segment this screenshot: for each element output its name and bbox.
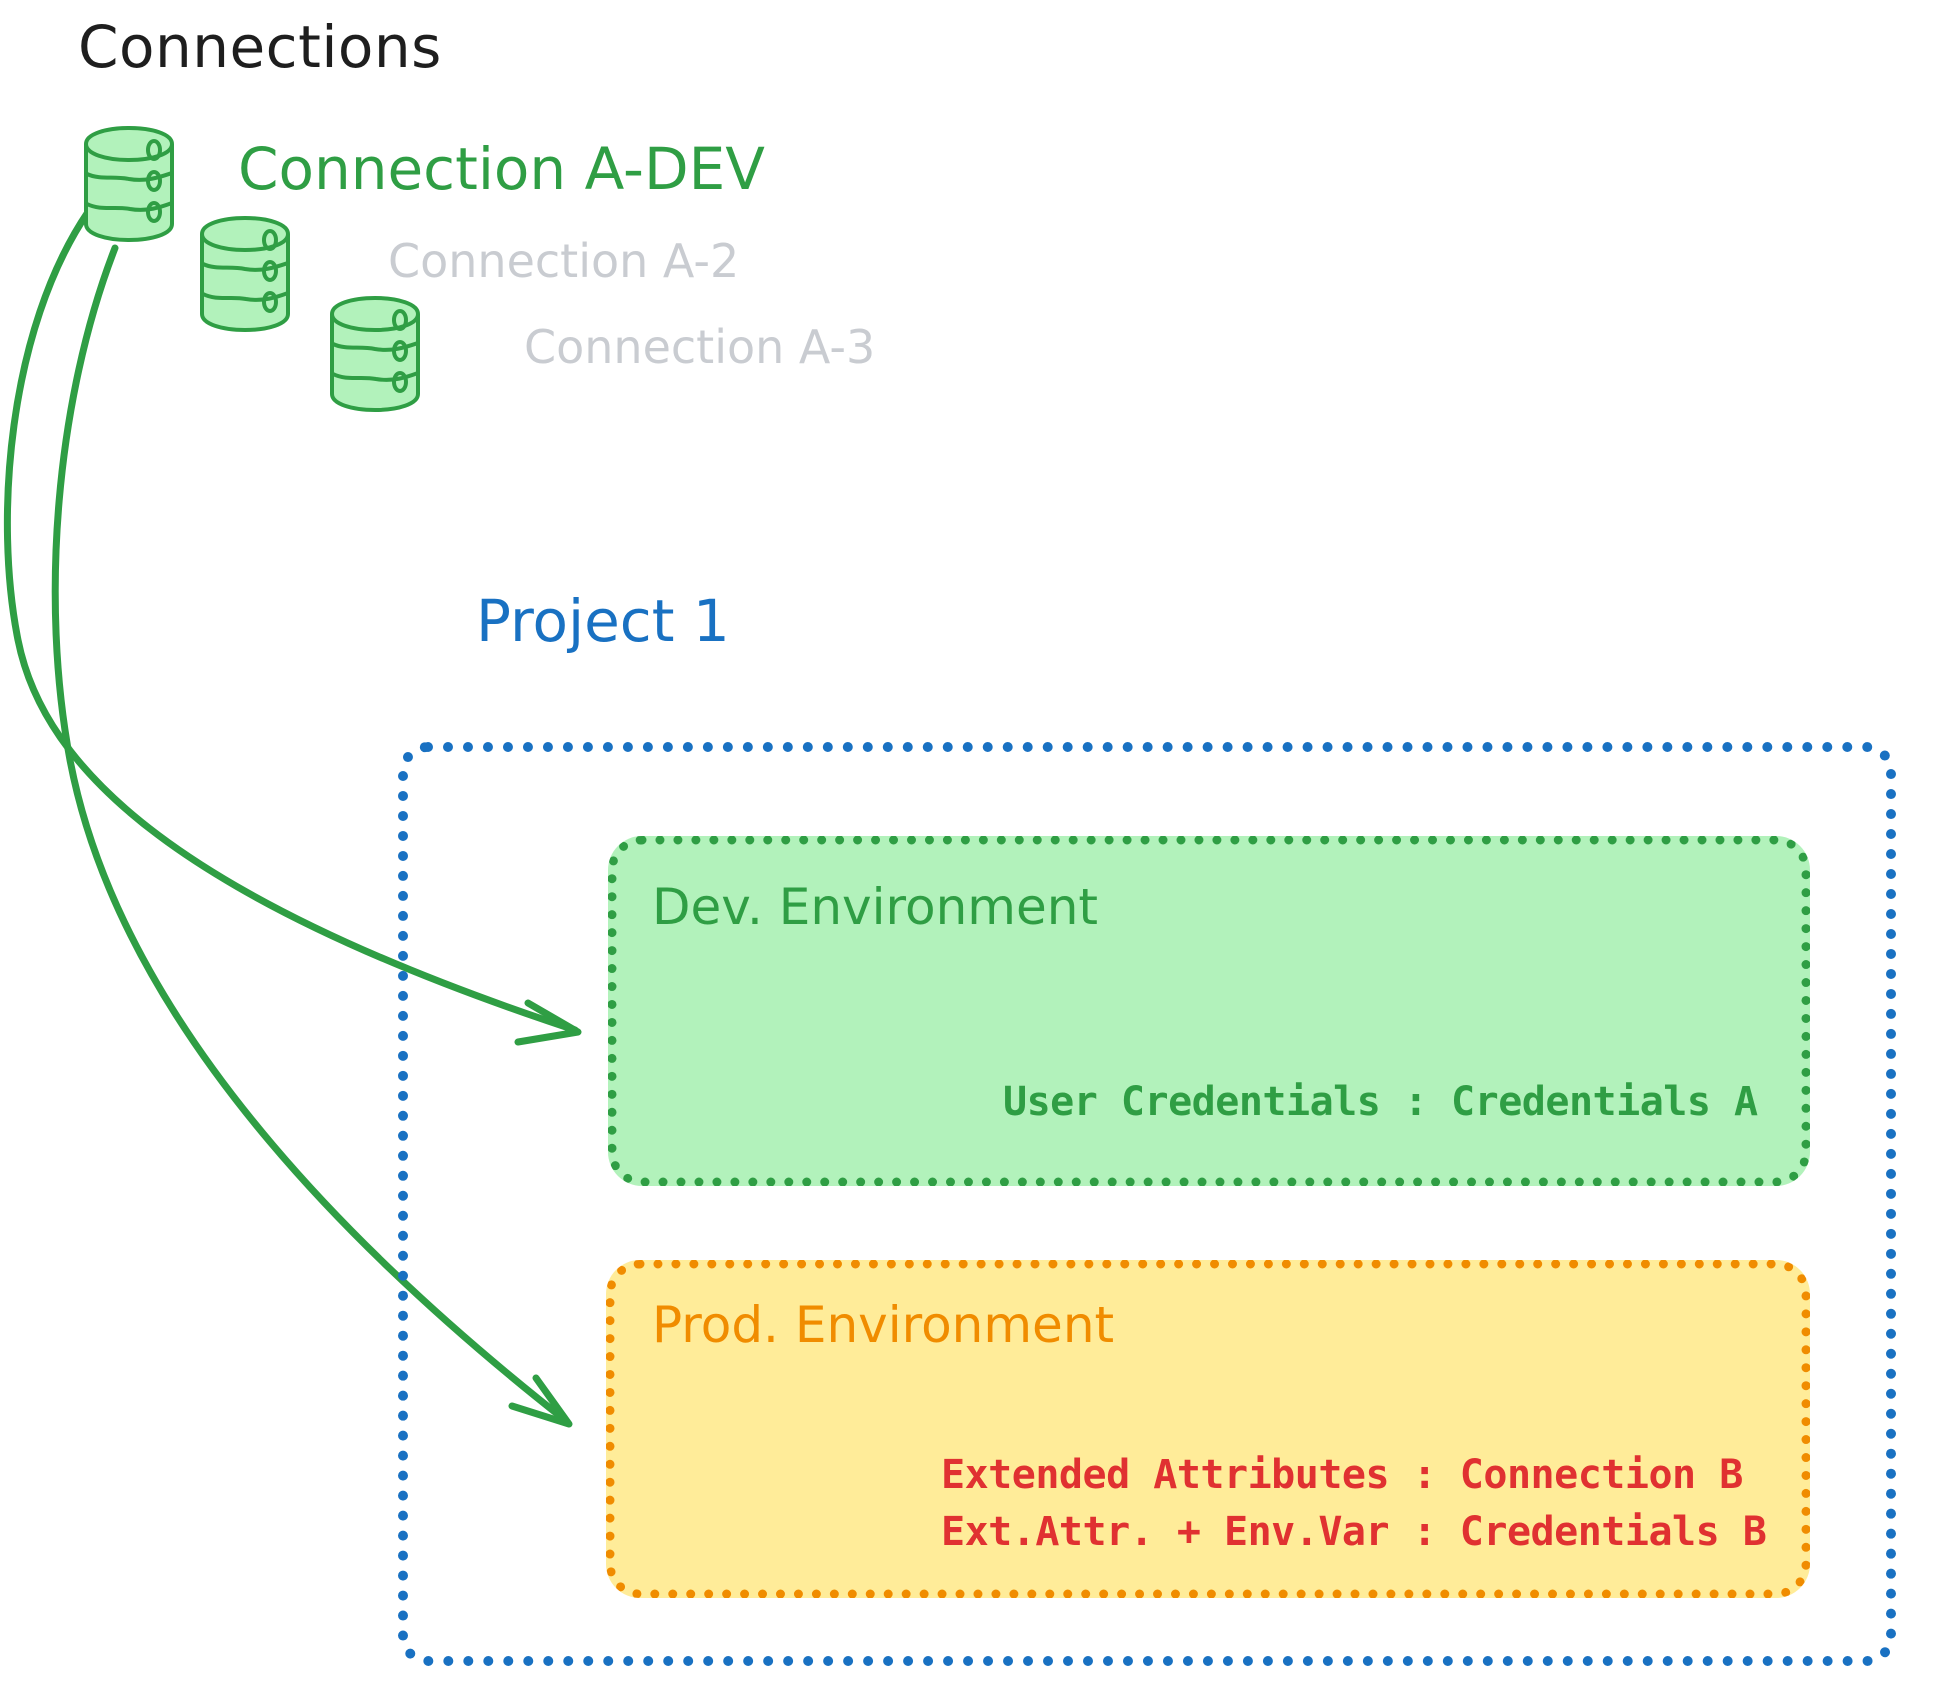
connection-label-a-3[interactable]: Connection A-3 (524, 324, 875, 370)
prod-environment-attribute-1: Extended Attributes : Connection B (941, 1455, 1743, 1495)
prod-environment-attribute-2: Ext.Attr. + Env.Var : Credentials B (941, 1512, 1766, 1552)
database-cylinder-icon-3[interactable] (332, 298, 418, 410)
connection-label-a-2[interactable]: Connection A-2 (388, 238, 739, 284)
diagram-canvas: Connections (0, 0, 1938, 1691)
project-title: Project 1 (476, 592, 730, 650)
prod-environment-title: Prod. Environment (652, 1300, 1114, 1350)
dev-environment-title: Dev. Environment (652, 882, 1098, 932)
database-cylinder-icon-1[interactable] (86, 128, 172, 240)
dev-environment-attribute: User Credentials : Credentials A (1003, 1082, 1758, 1122)
database-cylinder-icon-2[interactable] (202, 218, 288, 330)
connection-label-a-dev[interactable]: Connection A-DEV (238, 140, 765, 198)
